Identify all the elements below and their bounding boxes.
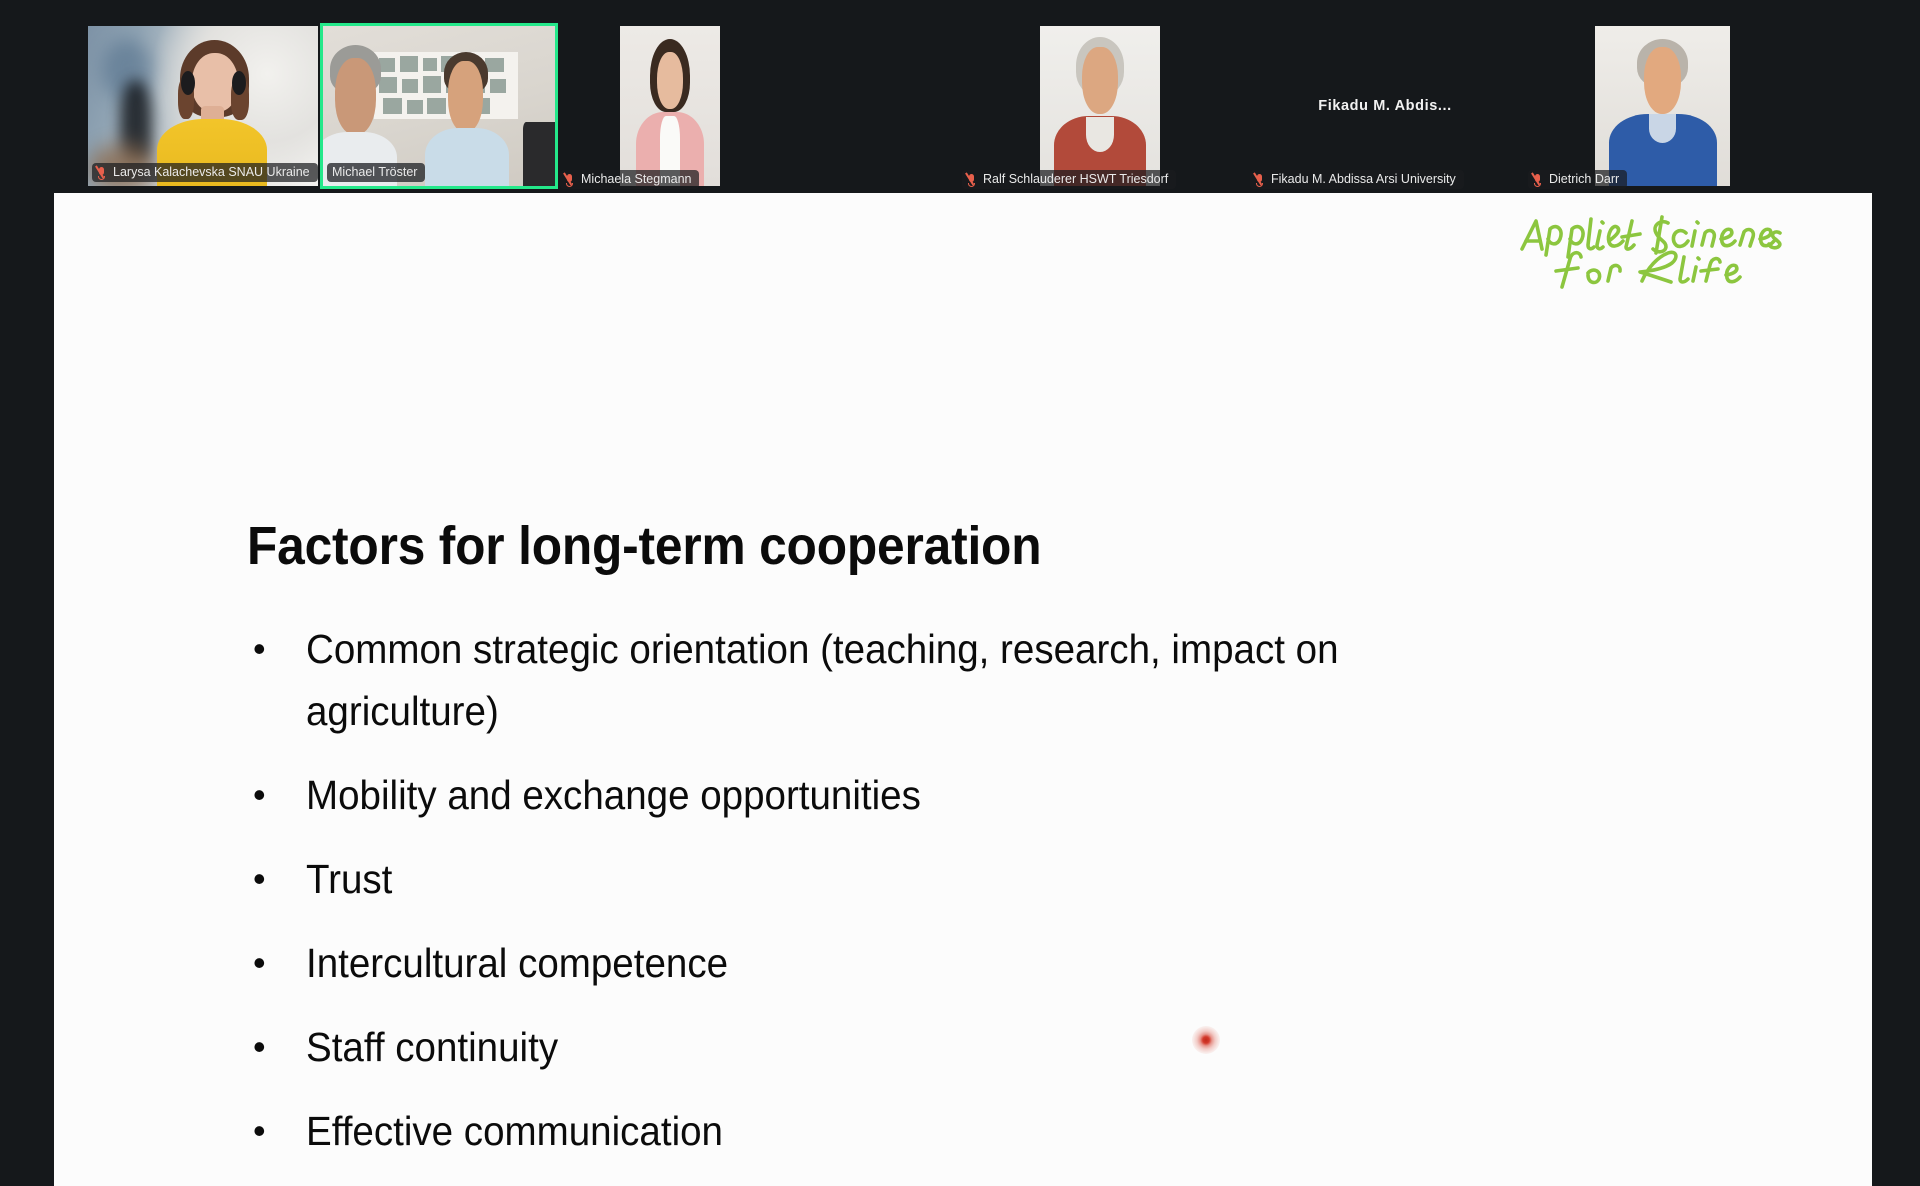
participant-name: Larysa Kalachevska SNAU Ukraine [113,163,310,182]
participant-name-badge: Michael Tröster [327,163,425,182]
bullet-marker: • [244,1100,306,1162]
bullet-marker: • [244,932,306,994]
participant-filmstrip: Larysa Kalachevska SNAU Ukraine [0,0,1920,193]
video-tile-michael-troster[interactable]: Michael Tröster [320,23,558,189]
mic-muted-icon [565,173,576,187]
video-feed [88,26,318,186]
video-tile-fikadu-abdissa[interactable]: Fikadu M. Abdis... [1240,26,1530,186]
laser-pointer-dot [1192,1026,1220,1054]
participant-name-badge: Ralf Schlauderer HSWT Triesdorf [962,170,1176,189]
participant-name: Fikadu M. Abdissa Arsi University [1271,170,1456,189]
video-tile-dietrich-darr[interactable] [1595,26,1730,186]
video-off-placeholder-name: Fikadu M. Abdis... [1240,98,1530,114]
bullet-text: Staff continuity [306,1016,558,1078]
applied-sciences-for-life-logo [1516,209,1816,289]
mic-muted-icon [97,166,108,180]
slide-title: Factors for long-term cooperation [247,515,1041,577]
video-feed [1595,26,1730,186]
bullet-text: Mobility and exchange opportunities [306,764,921,826]
participant-name: Michael Tröster [332,163,417,182]
mic-muted-icon [1255,173,1266,187]
list-item: • Trust [244,848,1664,910]
participant-name-badge: Michaela Stegmann [560,170,699,189]
slide-bullet-list: • Common strategic orientation (teaching… [244,618,1664,1186]
bullet-marker: • [244,1016,306,1078]
participant-name-badge: Dietrich Darr [1528,170,1627,189]
bullet-text: Intercultural competence [306,932,728,994]
list-item: • Common strategic orientation (teaching… [244,618,1664,742]
video-feed [323,26,555,186]
video-tile-michaela-stegmann[interactable] [620,26,720,186]
mic-muted-icon [967,173,978,187]
list-item: • Mobility and exchange opportunities [244,764,1664,826]
bullet-marker: • [244,618,306,680]
bullet-marker: • [244,764,306,826]
bullet-text: Effective communication [306,1100,723,1162]
screen-share-meeting-view: Larysa Kalachevska SNAU Ukraine [0,0,1920,1186]
participant-name-badge: Fikadu M. Abdissa Arsi University [1250,170,1464,189]
participant-name: Dietrich Darr [1549,170,1619,189]
participant-name: Michaela Stegmann [581,170,691,189]
mic-muted-icon [1533,173,1544,187]
video-tile-larysa-kalachevska[interactable]: Larysa Kalachevska SNAU Ukraine [88,26,318,186]
video-tile-ralf-schlauderer[interactable] [1040,26,1160,186]
list-item: • Effective communication [244,1100,1664,1162]
list-item: • Intercultural competence [244,932,1664,994]
bullet-text: Common strategic orientation (teaching, … [306,618,1339,742]
participant-name-badge: Larysa Kalachevska SNAU Ukraine [92,163,318,182]
bullet-text: Trust [306,848,392,910]
list-item: • Staff continuity [244,1016,1664,1078]
video-feed [620,26,720,186]
shared-slide[interactable]: Factors for long-term cooperation • Comm… [54,193,1872,1186]
video-feed [1040,26,1160,186]
participant-name: Ralf Schlauderer HSWT Triesdorf [983,170,1168,189]
bullet-marker: • [244,848,306,910]
